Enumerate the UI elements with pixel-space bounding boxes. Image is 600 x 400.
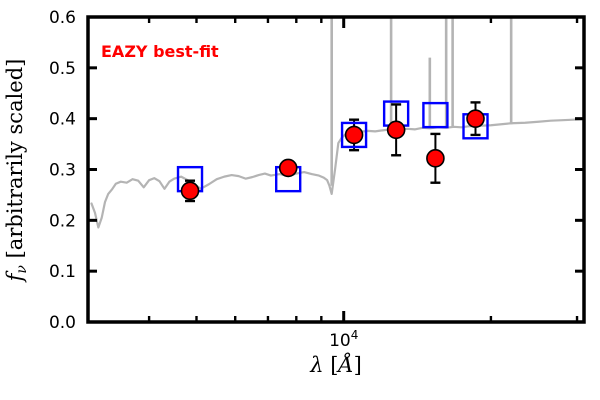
observed-flux-point [280, 159, 297, 176]
sed-plot: 0.00.10.20.30.40.50.6 104 EAZY best-fit … [0, 0, 600, 400]
observed-flux-point [427, 150, 444, 167]
y-axis-title: fν [arbitrarily scaled] [3, 59, 30, 284]
observed-flux-point [346, 126, 363, 143]
eazy-best-fit-annotation: EAZY best-fit [101, 42, 219, 61]
y-tick-label: 0.1 [49, 262, 76, 282]
observed-flux-point [467, 110, 484, 127]
y-tick-label: 0.2 [49, 211, 76, 231]
y-axis-tick-labels: 0.00.10.20.30.40.50.6 [49, 8, 76, 333]
y-tick-label: 0.3 [49, 161, 76, 181]
observed-flux-point [182, 182, 199, 199]
y-tick-label: 0.6 [49, 8, 76, 28]
y-tick-label: 0.0 [49, 313, 76, 333]
x-tick-label: 104 [329, 328, 358, 351]
sed-figure: 0.00.10.20.30.40.50.6 104 EAZY best-fit … [0, 0, 600, 400]
observed-flux-point [388, 121, 405, 138]
x-axis-tick-labels: 104 [329, 328, 358, 351]
y-tick-label: 0.4 [49, 110, 76, 130]
y-tick-label: 0.5 [49, 59, 76, 79]
x-axis-title: λ [Å] [309, 352, 362, 377]
